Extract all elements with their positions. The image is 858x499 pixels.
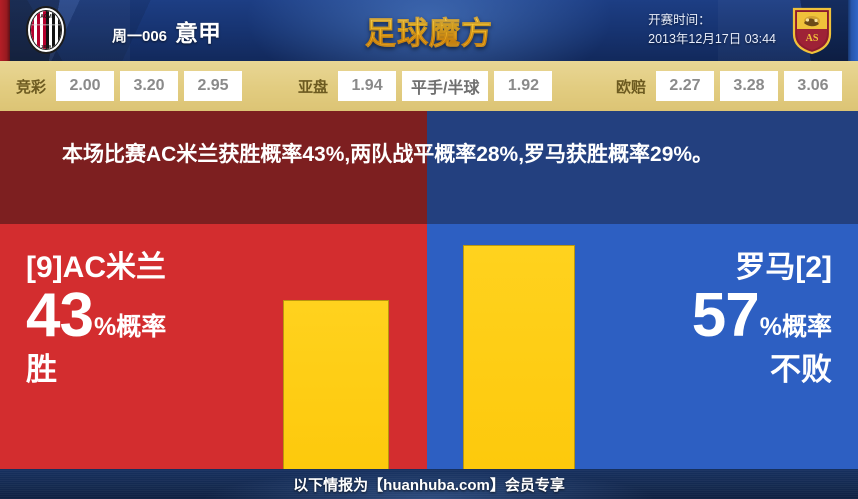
odds-cell-oupei-away[interactable]: 3.06 — [784, 71, 842, 101]
odds-cell-jingcai-away[interactable]: 2.95 — [184, 71, 242, 101]
away-team-block: 罗马[2] 57 %概率 不败 — [692, 250, 832, 390]
home-team-block: [9]AC米兰 43 %概率 胜 — [26, 250, 166, 390]
odds-group-title: 亚盘 — [298, 76, 328, 97]
infographic-screen: ACM 1899 AS 周一006 意甲 足球魔方 开赛时间： 2 — [0, 0, 858, 499]
home-verdict: 胜 — [26, 350, 166, 390]
footer-bar: 以下情报为【huanhuba.com】会员专享 — [0, 469, 858, 499]
ac-milan-crest-icon: ACM 1899 — [24, 5, 68, 55]
away-probability-bar — [463, 245, 575, 469]
odds-group-jingcai: 竞彩 2.00 3.20 2.95 — [16, 71, 242, 101]
odds-group-title: 欧赔 — [616, 76, 646, 97]
header-right-blue-edge — [848, 0, 858, 61]
svg-text:AS: AS — [806, 33, 819, 44]
odds-cell-oupei-draw[interactable]: 3.28 — [720, 71, 778, 101]
match-round: 周一006 — [112, 25, 167, 46]
summary-band: 本场比赛AC米兰获胜概率43%,两队战平概率28%,罗马获胜概率29%。 — [0, 111, 858, 224]
home-percent-suffix: %概率 — [94, 315, 166, 344]
odds-cell-yapan-handicap[interactable]: 平手/半球 — [402, 71, 488, 101]
away-percent-line: 57 %概率 — [692, 288, 832, 344]
match-header: ACM 1899 AS 周一006 意甲 足球魔方 开赛时间： 2 — [0, 0, 858, 61]
odds-cell-jingcai-draw[interactable]: 3.20 — [120, 71, 178, 101]
odds-cell-oupei-home[interactable]: 2.27 — [656, 71, 714, 101]
home-probability-bar — [283, 300, 389, 469]
away-percent-suffix: %概率 — [760, 315, 832, 344]
probability-panels: [9]AC米兰 43 %概率 胜 罗马[2] 57 %概率 不败 — [0, 224, 858, 469]
kickoff-time: 开赛时间： 2013年12月17日 03:44 — [648, 11, 776, 49]
home-percent-value: 43 — [26, 288, 93, 344]
away-verdict: 不败 — [692, 350, 832, 390]
odds-group-title: 竞彩 — [16, 76, 46, 97]
footer-text: 以下情报为【huanhuba.com】会员专享 — [293, 474, 565, 495]
match-label: 周一006 意甲 — [112, 14, 221, 48]
odds-cell-yapan-away[interactable]: 1.92 — [494, 71, 552, 101]
svg-text:1899: 1899 — [41, 44, 52, 49]
kickoff-label: 开赛时间： — [648, 11, 776, 30]
home-percent-line: 43 %概率 — [26, 288, 166, 344]
odds-cell-yapan-home[interactable]: 1.94 — [338, 71, 396, 101]
brand-logo: 足球魔方 — [359, 5, 499, 56]
match-league: 意甲 — [175, 14, 221, 48]
kickoff-value: 2013年12月17日 03:44 — [648, 30, 776, 49]
odds-group-yapan: 亚盘 1.94 平手/半球 1.92 — [298, 71, 552, 101]
away-percent-value: 57 — [692, 288, 759, 344]
odds-cell-jingcai-home[interactable]: 2.00 — [56, 71, 114, 101]
summary-text: 本场比赛AC米兰获胜概率43%,两队战平概率28%,罗马获胜概率29%。 — [62, 138, 802, 172]
as-roma-crest-icon: AS — [790, 5, 834, 55]
svg-text:ACM: ACM — [40, 14, 51, 20]
odds-bar: 竞彩 2.00 3.20 2.95 亚盘 1.94 平手/半球 1.92 欧赔 … — [0, 61, 858, 111]
odds-group-oupei: 欧赔 2.27 3.28 3.06 — [616, 71, 842, 101]
header-left-red-edge — [0, 0, 10, 61]
